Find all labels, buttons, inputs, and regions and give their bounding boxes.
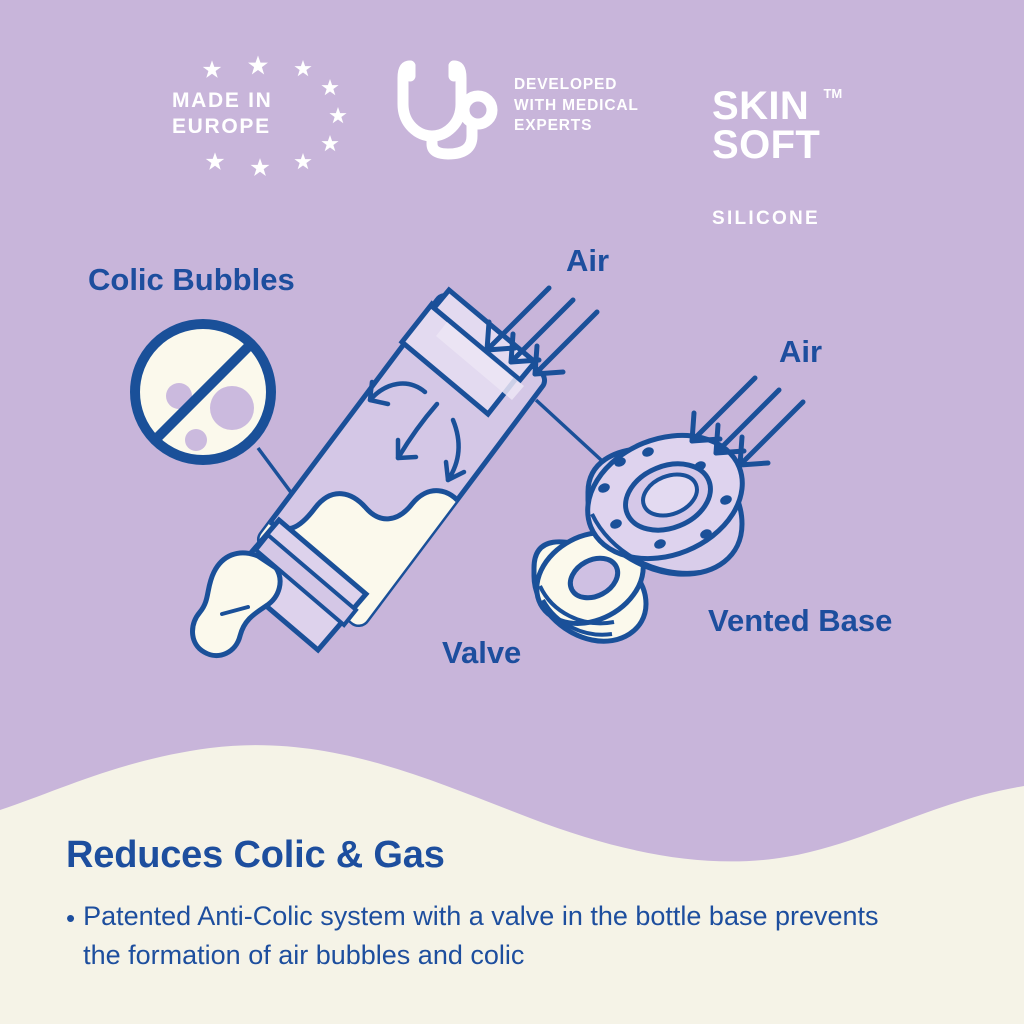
label-air-right: Air — [779, 334, 822, 370]
label-colic-bubbles: Colic Bubbles — [88, 262, 295, 298]
air-arrow — [740, 402, 803, 465]
bottom-copy-block: Reduces Colic & Gas • Patented Anti-Coli… — [66, 834, 966, 975]
air-arrow — [487, 288, 549, 350]
air-arrow — [535, 312, 597, 374]
bottle-teat — [193, 553, 281, 656]
bullet-text: Patented Anti-Colic system with a valve … — [83, 897, 903, 975]
bubble — [210, 386, 254, 430]
bullet-item: • Patented Anti-Colic system with a valv… — [66, 897, 966, 975]
infographic-page: MADE IN EUROPE DEVELOPED WITH MEDICAL EX… — [0, 0, 1024, 1024]
no-colic-bubbles-icon — [135, 324, 271, 461]
label-valve: Valve — [442, 635, 521, 671]
bullet-marker: • — [66, 905, 75, 931]
label-vented-base: Vented Base — [708, 603, 892, 639]
air-arrow — [692, 378, 755, 441]
air-arrow — [511, 300, 573, 362]
label-air-left: Air — [566, 243, 609, 279]
headline: Reduces Colic & Gas — [66, 834, 966, 877]
air-arrow — [716, 390, 779, 453]
bubble — [185, 429, 207, 451]
